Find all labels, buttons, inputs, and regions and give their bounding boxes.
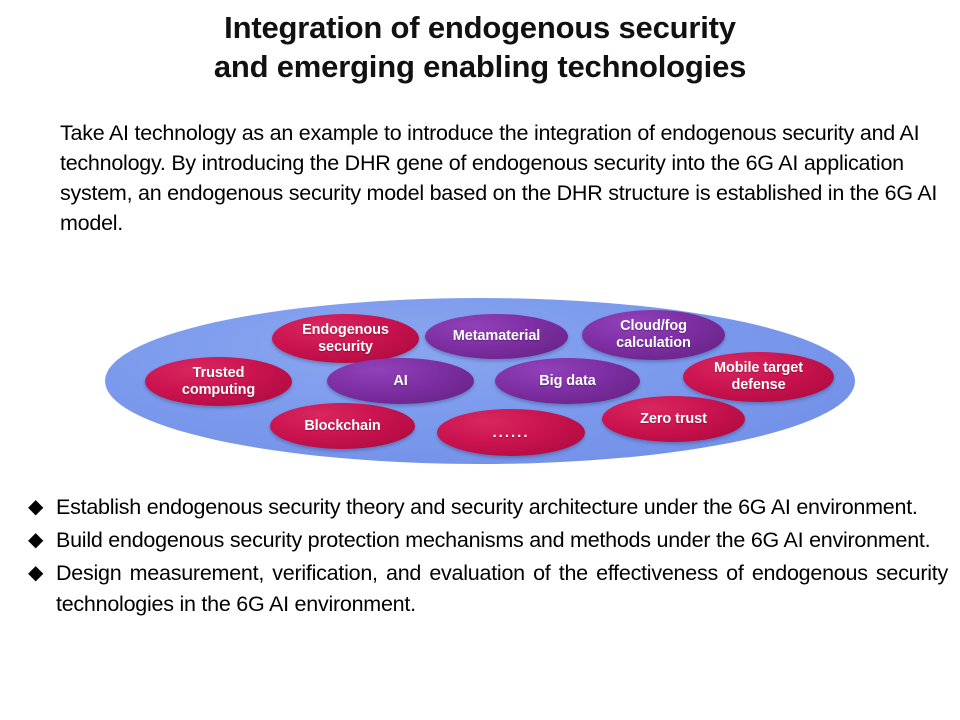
diagram-node-metamaterial: Metamaterial <box>425 314 568 359</box>
diagram-node-label: Mobile target defense <box>708 360 809 394</box>
list-item: ◆ Build endogenous security protection m… <box>28 525 948 556</box>
diagram-node-mobile-target-defense: Mobile target defense <box>683 352 834 402</box>
diagram-node-label: Zero trust <box>634 411 713 428</box>
bullet-text: Build endogenous security protection mec… <box>56 525 948 556</box>
diagram-node-endogenous-security: Endogenous security <box>272 314 419 363</box>
diamond-bullet-icon: ◆ <box>28 492 56 523</box>
bullet-text: Establish endogenous security theory and… <box>56 492 948 523</box>
diagram-node-big-data: Big data <box>495 358 640 404</box>
diagram-node-label: Big data <box>533 373 601 390</box>
list-item: ◆ Design measurement, verification, and … <box>28 558 948 620</box>
diagram-node-label: Endogenous security <box>296 322 395 356</box>
diagram-node-label: Trusted computing <box>176 365 261 399</box>
bullet-list: ◆ Establish endogenous security theory a… <box>28 492 948 622</box>
intro-paragraph: Take AI technology as an example to intr… <box>60 118 940 238</box>
diagram-node-trusted-computing: Trusted computing <box>145 357 292 406</box>
diagram-node-ellipsis: ...... <box>437 409 585 456</box>
diagram-node-label: AI <box>387 373 413 390</box>
diagram-node-label: Metamaterial <box>447 328 546 345</box>
outer-ellipse-container <box>105 298 855 464</box>
diagram-node-label: Blockchain <box>298 418 386 435</box>
diamond-bullet-icon: ◆ <box>28 558 56 589</box>
diagram-node-label: Cloud/fog calculation <box>610 318 697 352</box>
diamond-bullet-icon: ◆ <box>28 525 56 556</box>
diagram-node-zero-trust: Zero trust <box>602 396 745 442</box>
page-title: Integration of endogenous security and e… <box>0 8 960 86</box>
diagram-node-label: ...... <box>486 424 535 441</box>
bullet-text: Design measurement, verification, and ev… <box>56 558 948 620</box>
diagram-node-blockchain: Blockchain <box>270 403 415 449</box>
list-item: ◆ Establish endogenous security theory a… <box>28 492 948 523</box>
diagram-node-cloud-fog-calculation: Cloud/fog calculation <box>582 310 725 360</box>
diagram-stage: Endogenous securityMetamaterialCloud/fog… <box>105 298 855 464</box>
diagram-node-ai: AI <box>327 358 474 404</box>
